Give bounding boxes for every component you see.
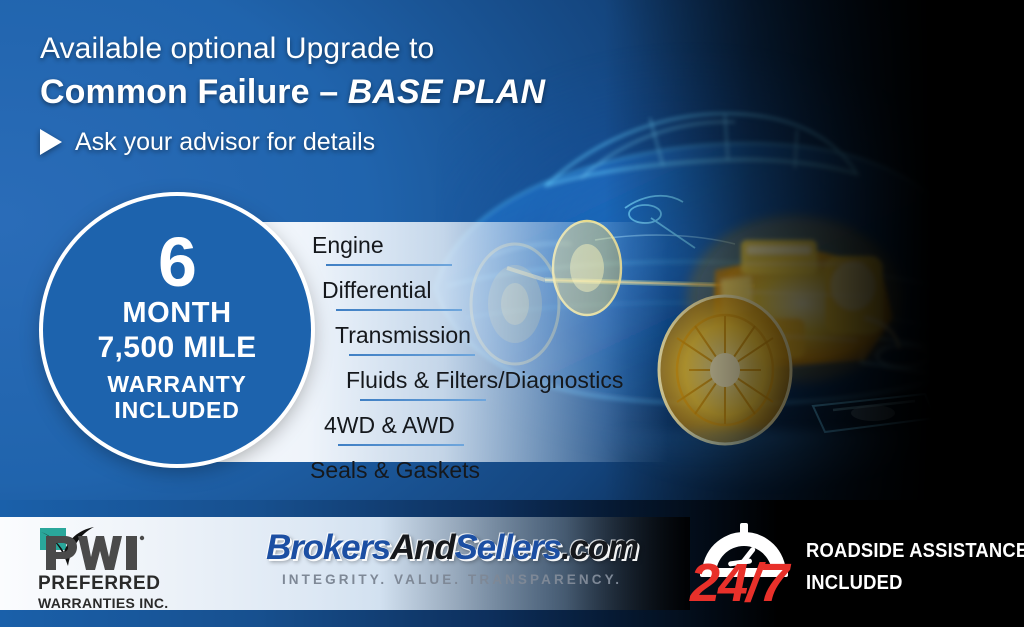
headline-line-2: Common Failure – BASE PLAN	[40, 73, 660, 112]
brokers-wordmark: BrokersAndSellers.com	[252, 530, 652, 565]
badge-period: MONTH	[122, 298, 231, 328]
coverage-item-label: Transmission	[335, 322, 471, 348]
badge-warranty-label: WARRANTY	[107, 372, 246, 398]
pwi-wordmark	[38, 526, 178, 572]
badge-included-label: INCLUDED	[114, 398, 239, 424]
coverage-item-label: 4WD & AWD	[324, 412, 455, 438]
brokers-part-sellers: Sellers	[455, 528, 561, 567]
coverage-item: Differential	[322, 273, 700, 318]
promotional-banner: Available optional Upgrade to Common Fai…	[0, 0, 1024, 627]
roadside-line-2: INCLUDED	[806, 572, 1024, 594]
headline-block: Available optional Upgrade to Common Fai…	[40, 32, 660, 157]
headline-line-2-prefix: Common Failure –	[40, 73, 348, 111]
play-triangle-icon	[40, 129, 62, 155]
brokers-and-sellers-logo[interactable]: BrokersAndSellers.com INTEGRITY. VALUE. …	[252, 530, 652, 587]
badge-number: 6	[158, 230, 196, 294]
coverage-divider	[326, 264, 452, 266]
brokers-part-brokers: Brokers	[266, 528, 390, 567]
pwi-logo[interactable]: PREFERRED WARRANTIES INC.	[38, 526, 178, 611]
clock-icon-wrapper: 24/7	[692, 512, 796, 612]
coverage-item: Transmission	[335, 318, 700, 363]
roadside-text: ROADSIDE ASSISTANCE INCLUDED	[806, 540, 1024, 594]
service-247-badge: 24/7	[690, 556, 787, 610]
pwi-subtitle-1: PREFERRED	[38, 574, 178, 594]
roadside-assistance-block: 24/7 ROADSIDE ASSISTANCE INCLUDED	[692, 512, 1024, 612]
cta-row: Ask your advisor for details	[40, 128, 660, 157]
coverage-divider	[360, 399, 486, 401]
cta-text: Ask your advisor for details	[75, 128, 375, 157]
brokers-tagline: INTEGRITY. VALUE. TRANSPARENCY.	[252, 572, 652, 587]
coverage-divider	[336, 309, 462, 311]
headline-line-2-emphasis: BASE PLAN	[348, 73, 545, 111]
coverage-item: 4WD & AWD	[324, 408, 700, 453]
coverage-item: Engine	[312, 228, 700, 273]
coverage-divider	[338, 444, 464, 446]
roadside-line-1: ROADSIDE ASSISTANCE	[806, 540, 1024, 562]
brokers-part-and: And	[390, 528, 454, 567]
coverage-item: Seals & Gaskets	[310, 453, 700, 489]
coverage-list: Engine Differential Transmission Fluids …	[300, 228, 700, 489]
coverage-item-label: Differential	[322, 277, 432, 303]
coverage-item-label: Fluids & Filters/Diagnostics	[346, 367, 623, 393]
headline-line-1: Available optional Upgrade to	[40, 32, 660, 67]
coverage-item: Fluids & Filters/Diagnostics	[346, 363, 700, 408]
pwi-subtitle-2: WARRANTIES INC.	[38, 595, 178, 611]
brokers-part-dotcom: .com	[561, 528, 638, 567]
footer-bar: PREFERRED WARRANTIES INC. BrokersAndSell…	[0, 500, 1024, 627]
coverage-item-label: Engine	[312, 232, 384, 258]
coverage-divider	[349, 354, 475, 356]
coverage-item-label: Seals & Gaskets	[310, 457, 480, 483]
warranty-badge: 6 MONTH 7,500 MILE WARRANTY INCLUDED	[43, 196, 311, 464]
badge-mileage: 7,500 MILE	[97, 332, 256, 364]
